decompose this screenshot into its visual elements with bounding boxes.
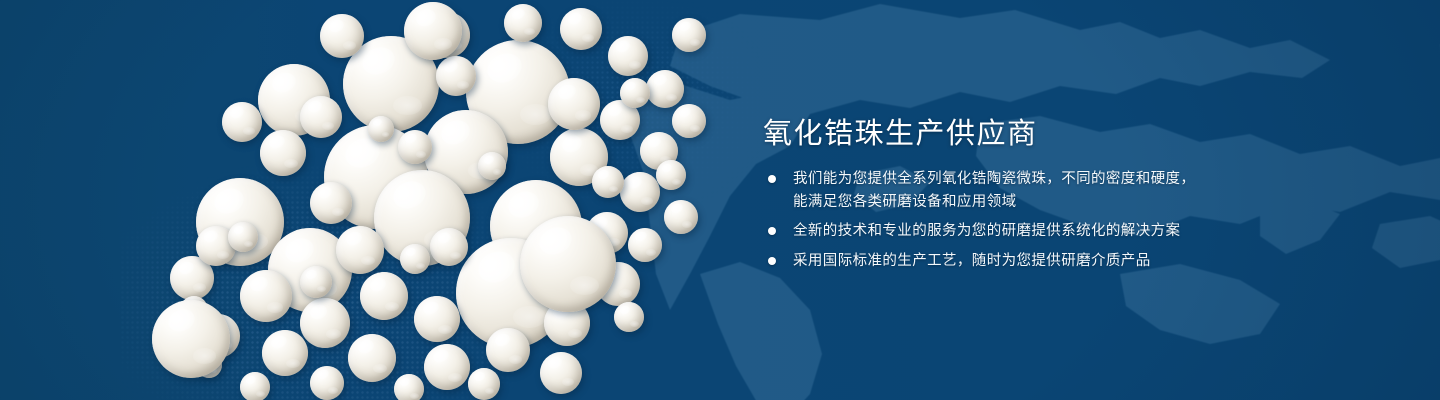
bullet-line-2: 能满足您各类研磨设备和应用领域 [793,191,1195,214]
bullet-text: 全新的技术和专业的服务为您的研磨提供系统化的解决方案 [793,220,1180,243]
bullet-item: 全新的技术和专业的服务为您的研磨提供系统化的解决方案 [768,220,1195,243]
bead-small [394,374,424,400]
bead-medium [300,298,350,348]
banner-title: 氧化锆珠生产供应商 [763,110,1038,152]
bead-medium [646,70,684,108]
bead-medium [424,344,470,390]
banner-content: 氧化锆珠生产供应商 我们能为您提供全系列氧化锆陶瓷微珠，不同的密度和硬度， 能满… [763,0,1363,400]
bead-small [478,152,506,180]
bead-large [404,2,462,60]
bead-medium [398,130,432,164]
bead-large [152,300,230,378]
bead-medium [320,14,364,58]
bead-small [300,266,332,298]
bead-small [628,228,662,262]
bead-small [656,160,686,190]
bead-small [310,366,344,400]
bullet-item: 采用国际标准的生产工艺，随时为您提供研磨介质产品 [768,250,1195,273]
banner-bullet-list: 我们能为您提供全系列氧化锆陶瓷微珠，不同的密度和硬度， 能满足您各类研磨设备和应… [768,168,1195,279]
bullet-dot-icon [768,175,776,183]
bead-small [400,244,430,274]
bead-medium [620,172,660,212]
bead-small [620,78,650,108]
bead-small [672,18,706,52]
bead-medium [300,96,342,138]
bead-small [614,302,644,332]
bead-medium [540,352,582,394]
bead-medium [560,8,602,50]
bead-small [368,116,394,142]
bullet-line-1: 我们能为您提供全系列氧化锆陶瓷微珠，不同的密度和硬度， [793,171,1195,187]
bead-small [228,222,258,252]
bead-medium [336,226,384,274]
bullet-text: 采用国际标准的生产工艺，随时为您提供研磨介质产品 [793,250,1151,273]
bead-medium [260,130,306,176]
bead-medium [436,56,476,96]
bead-medium [430,228,468,266]
bead-medium [360,272,408,320]
bead-small [468,368,500,400]
bead-small [240,372,270,400]
bullet-text: 我们能为您提供全系列氧化锆陶瓷微珠，不同的密度和硬度， 能满足您各类研磨设备和应… [793,168,1195,213]
bead-medium [222,102,262,142]
bullet-dot-icon [768,257,776,265]
hero-banner: 氧化锆珠生产供应商 我们能为您提供全系列氧化锆陶瓷微珠，不同的密度和硬度， 能满… [0,0,1440,400]
bead-medium [504,4,542,42]
bead-medium [414,296,460,342]
bead-large [520,216,616,312]
bead-medium [348,334,396,382]
bead-medium [486,328,530,372]
bead-medium [310,182,352,224]
bullet-item: 我们能为您提供全系列氧化锆陶瓷微珠，不同的密度和硬度， 能满足您各类研磨设备和应… [768,168,1195,213]
bead-small [672,104,706,138]
bead-medium [608,36,648,76]
bead-large [548,78,600,130]
bead-small [592,166,624,198]
bead-small [664,200,698,234]
bullet-dot-icon [768,227,776,235]
bead-medium [262,330,308,376]
bead-medium [240,270,292,322]
